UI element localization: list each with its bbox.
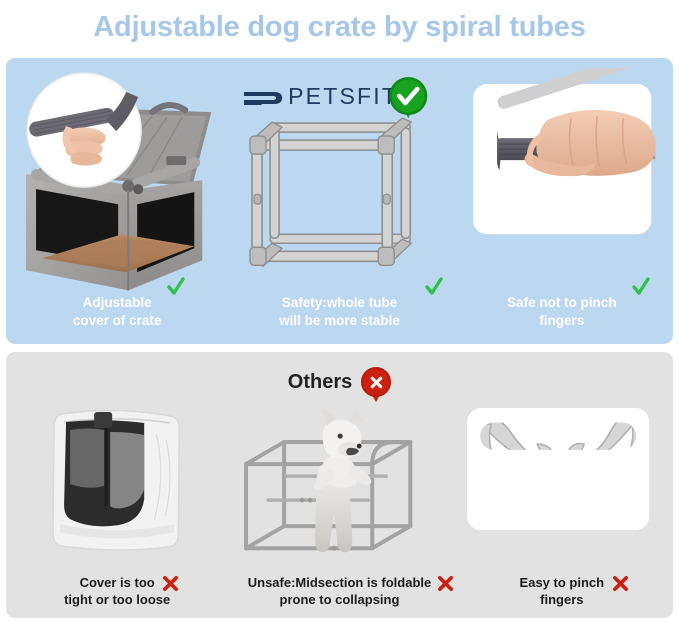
pinched-fingers-illustration [451, 400, 673, 575]
page-title-bar: Adjustable dog crate by spiral tubes [0, 0, 679, 55]
caption-line-2: cover of crate [10, 312, 224, 329]
others-heading-label: Others [288, 371, 352, 394]
others-heading-row: Others [6, 361, 673, 403]
dog-illustration [314, 406, 372, 552]
caption-line-1: Cover is too [10, 575, 224, 592]
caption-line-2: fingers [455, 592, 669, 609]
green-check-badge-icon [390, 77, 428, 118]
red-cross-badge-icon [361, 367, 391, 397]
caption-safe-no-pinch: Safe not to pinch fingers [451, 294, 673, 338]
caption-line-1: Unsafe:Midsection is foldable [232, 575, 446, 592]
petsfit-advantages-section: Adjustable cover of crate PETSFIT [6, 58, 673, 344]
caption-line-2: tight or too loose [10, 592, 224, 609]
panel-whole-tube[interactable]: PETSFIT [228, 68, 450, 338]
panel-foldable-midsection[interactable]: Unsafe:Midsection is foldable prone to c… [228, 400, 450, 614]
panel-pinch-fingers[interactable]: Easy to pinch fingers [451, 400, 673, 614]
check-icon-panel-1 [166, 276, 186, 296]
cross-icon-panel-3 [611, 574, 630, 593]
caption-loose-cover: Cover is too tight or too loose [6, 575, 228, 614]
panel-safe-no-pinch[interactable]: Safe not to pinch fingers [451, 68, 673, 338]
others-panel-row: Cover is too tight or too loose [6, 400, 673, 614]
caption-line-1: Adjustable [10, 294, 224, 311]
caption-line-2: will be more stable [232, 312, 446, 329]
check-icon-panel-2 [424, 276, 444, 296]
check-icon-panel-3 [631, 276, 651, 296]
whole-tube-frame-diagram: PETSFIT [228, 68, 450, 294]
panel-adjustable-cover[interactable]: Adjustable cover of crate [6, 68, 228, 338]
petsfit-panel-row: Adjustable cover of crate PETSFIT [6, 68, 673, 338]
adjustable-crate-photo [6, 68, 228, 294]
page-title: Adjustable dog crate by spiral tubes [93, 11, 585, 44]
loose-cover-crate-photo [6, 400, 228, 575]
caption-pinch-fingers: Easy to pinch fingers [451, 575, 673, 614]
hand-gripping-tube-photo [451, 68, 673, 294]
cross-icon-panel-1 [161, 574, 180, 593]
caption-adjustable-cover: Adjustable cover of crate [6, 294, 228, 338]
caption-line-1: Easy to pinch [455, 575, 669, 592]
caption-whole-tube: Safety:whole tube will be more stable [228, 294, 450, 338]
foldable-midsection-frame-diagram [228, 400, 450, 575]
caption-line-1: Safety:whole tube [232, 294, 446, 311]
caption-line-1: Safe not to pinch [455, 294, 669, 311]
caption-foldable-midsection: Unsafe:Midsection is foldable prone to c… [228, 575, 450, 614]
panel-loose-cover[interactable]: Cover is too tight or too loose [6, 400, 228, 614]
caption-line-2: prone to collapsing [232, 592, 446, 609]
cross-icon-panel-2 [436, 574, 455, 593]
others-drawbacks-section: Others [6, 352, 673, 618]
caption-line-2: fingers [455, 312, 669, 329]
brand-name-text: PETSFIT [288, 83, 398, 109]
